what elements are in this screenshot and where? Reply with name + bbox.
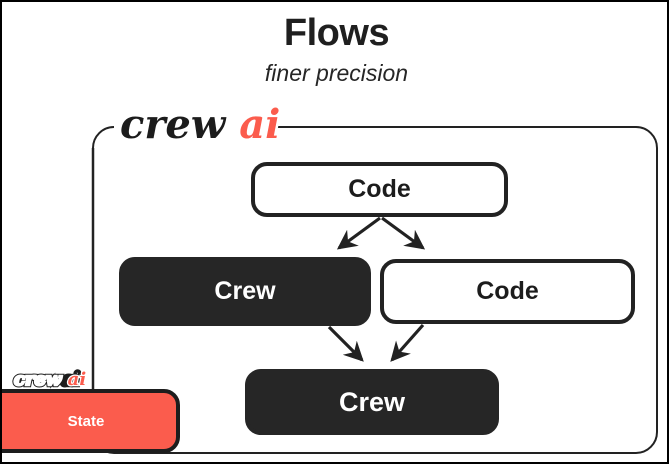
node-label: Crew — [214, 277, 275, 306]
node-label: Crew — [339, 387, 405, 418]
crewai-logo-small-ai: ai — [68, 371, 87, 389]
node-state[interactable]: State — [0, 389, 180, 453]
crewai-logo-ai: ai — [239, 105, 280, 145]
node-crew-middle[interactable]: Crew — [119, 257, 371, 326]
crewai-logo-small: crewai crew ai — [14, 371, 86, 389]
node-code-middle[interactable]: Code — [380, 259, 635, 324]
crewai-logo: crewai crew ai — [120, 105, 280, 145]
page-subtitle: finer precision — [2, 60, 669, 87]
flows-diagram-canvas: Flows finer precision — [0, 0, 669, 464]
node-label: State — [68, 413, 105, 430]
crewai-logo-small-crew: crew — [14, 371, 61, 389]
crewai-logo-crew: crew — [120, 105, 225, 145]
node-code-top[interactable]: Code — [251, 162, 508, 217]
node-crew-bottom[interactable]: Crew — [245, 369, 499, 435]
node-label: Code — [348, 175, 411, 204]
node-label: Code — [476, 277, 539, 306]
page-title: Flows — [2, 12, 669, 55]
